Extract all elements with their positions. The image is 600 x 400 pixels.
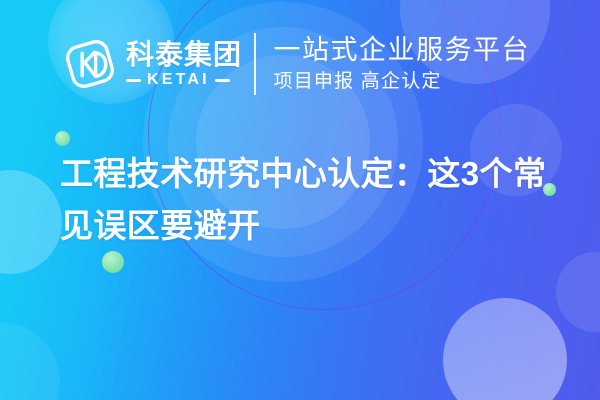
banner-headline: 工程技术研究中心认定：这3个常见误区要避开 [60, 148, 560, 252]
tagline-secondary: 项目申报 高企认定 [274, 70, 531, 94]
ketai-monogram-icon [62, 36, 118, 92]
brand-name-cn: 科泰集团 [126, 40, 242, 69]
wordmark-rule-right [215, 79, 230, 82]
bottom-right-blob-2 [556, 252, 600, 332]
bottom-left-blob [0, 322, 60, 400]
bottom-right-circle [443, 298, 567, 400]
promo-banner: 科泰集团 KETAI 一站式企业服务平台 项目申报 高企认定 工程技术研究中心认… [0, 0, 600, 400]
wordmark-rule-left [126, 79, 141, 82]
brand-name-en: KETAI [147, 72, 210, 88]
header-divider [254, 33, 256, 95]
tagline-block: 一站式企业服务平台 项目申报 高企认定 [274, 35, 531, 94]
tagline-primary: 一站式企业服务平台 [274, 35, 531, 67]
brand-name-en-row: KETAI [126, 72, 242, 88]
left-edge-circle [0, 170, 62, 274]
green-accent-dot-bottom [102, 251, 124, 273]
banner-header: 科泰集团 KETAI 一站式企业服务平台 项目申报 高企认定 [0, 0, 600, 128]
brand-logo[interactable]: 科泰集团 KETAI [62, 36, 242, 92]
brand-wordmark: 科泰集团 KETAI [126, 40, 242, 88]
green-accent-dot-left [55, 131, 70, 146]
